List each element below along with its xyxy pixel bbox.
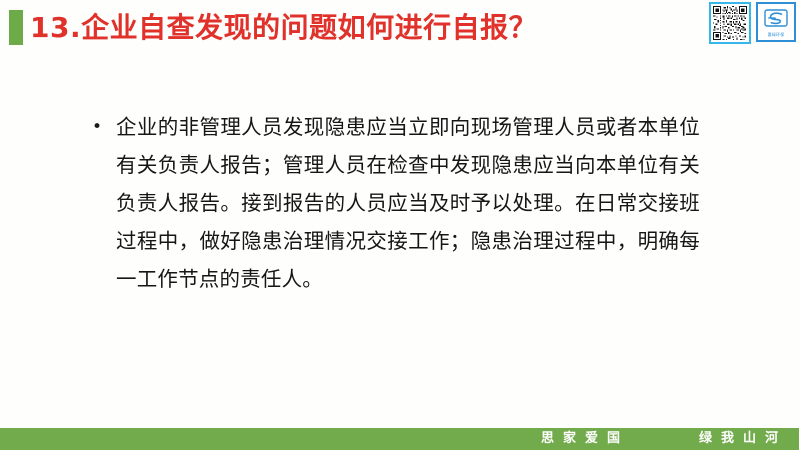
bullet-paragraph-text: 企业的非管理人员发现隐患应当立即向现场管理人员或者本单位有关负责人报告；管理人员… — [116, 108, 700, 298]
bullet-marker-icon: • — [88, 108, 116, 146]
company-logo[interactable]: 惠绿环保 — [756, 2, 796, 42]
brand-marks: 惠绿环保 — [709, 2, 796, 44]
slide-body: • 企业的非管理人员发现隐患应当立即向现场管理人员或者本单位有关负责人报告；管理… — [88, 108, 700, 298]
qr-code-glyph — [713, 6, 747, 40]
stylized-s-logo-icon — [764, 9, 788, 31]
footer-slogan-right: 绿我山河 — [699, 428, 787, 450]
company-logo-caption: 惠绿环保 — [768, 32, 785, 37]
qr-code-icon[interactable] — [709, 2, 751, 44]
footer-slogan-left: 思家爱国 — [541, 428, 629, 450]
title-accent-bar — [9, 10, 23, 45]
slide-header: 13.企业自查发现的问题如何进行自报？ — [0, 0, 799, 52]
slide-footer: 思家爱国 绿我山河 — [0, 428, 799, 450]
page-title: 13.企业自查发现的问题如何进行自报？ — [30, 8, 537, 48]
list-item: • 企业的非管理人员发现隐患应当立即向现场管理人员或者本单位有关负责人报告；管理… — [88, 108, 700, 298]
slide-canvas: 13.企业自查发现的问题如何进行自报？ — [0, 0, 799, 450]
